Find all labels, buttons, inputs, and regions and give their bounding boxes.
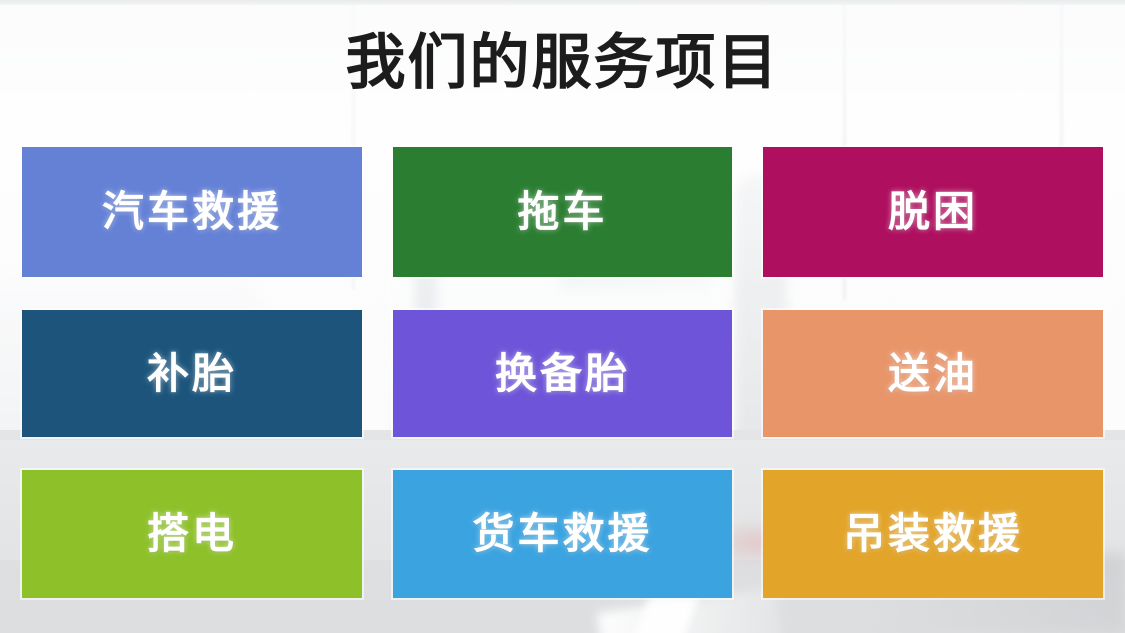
service-tile-label: 换备胎	[495, 353, 630, 395]
title-container: 我们的服务项目	[0, 20, 1125, 106]
service-tile-crane-rescue[interactable]: 吊装救援	[763, 470, 1103, 598]
service-tile-tire-repair[interactable]: 补胎	[22, 310, 362, 437]
service-tile-jump-start[interactable]: 搭电	[22, 470, 362, 598]
service-tile-truck-rescue[interactable]: 货车救援	[393, 470, 732, 598]
service-tile-label: 脱困	[888, 191, 978, 233]
service-tile-label: 汽车救援	[102, 191, 282, 233]
service-tile-towing[interactable]: 拖车	[393, 147, 732, 277]
service-tile-label: 补胎	[147, 353, 237, 395]
service-tile-label: 吊装救援	[843, 513, 1023, 555]
service-tile-spare-tire-change[interactable]: 换备胎	[393, 310, 732, 437]
service-grid: 汽车救援 拖车 脱困 补胎 换备胎 送油 搭电 货车救援 吊装救援	[22, 147, 1103, 598]
service-tile-fuel-delivery[interactable]: 送油	[763, 310, 1103, 437]
service-tile-extrication[interactable]: 脱困	[763, 147, 1103, 277]
service-tile-label: 拖车	[517, 191, 607, 233]
service-tile-label: 送油	[888, 353, 978, 395]
service-tile-roadside-assistance[interactable]: 汽车救援	[22, 147, 362, 277]
service-tile-label: 搭电	[147, 513, 237, 555]
service-tile-label: 货车救援	[472, 513, 652, 555]
service-menu-slide: 我们的服务项目 汽车救援 拖车 脱困 补胎 换备胎 送油 搭电 货车救援 吊装救…	[0, 0, 1125, 633]
page-title: 我们的服务项目	[346, 33, 780, 93]
